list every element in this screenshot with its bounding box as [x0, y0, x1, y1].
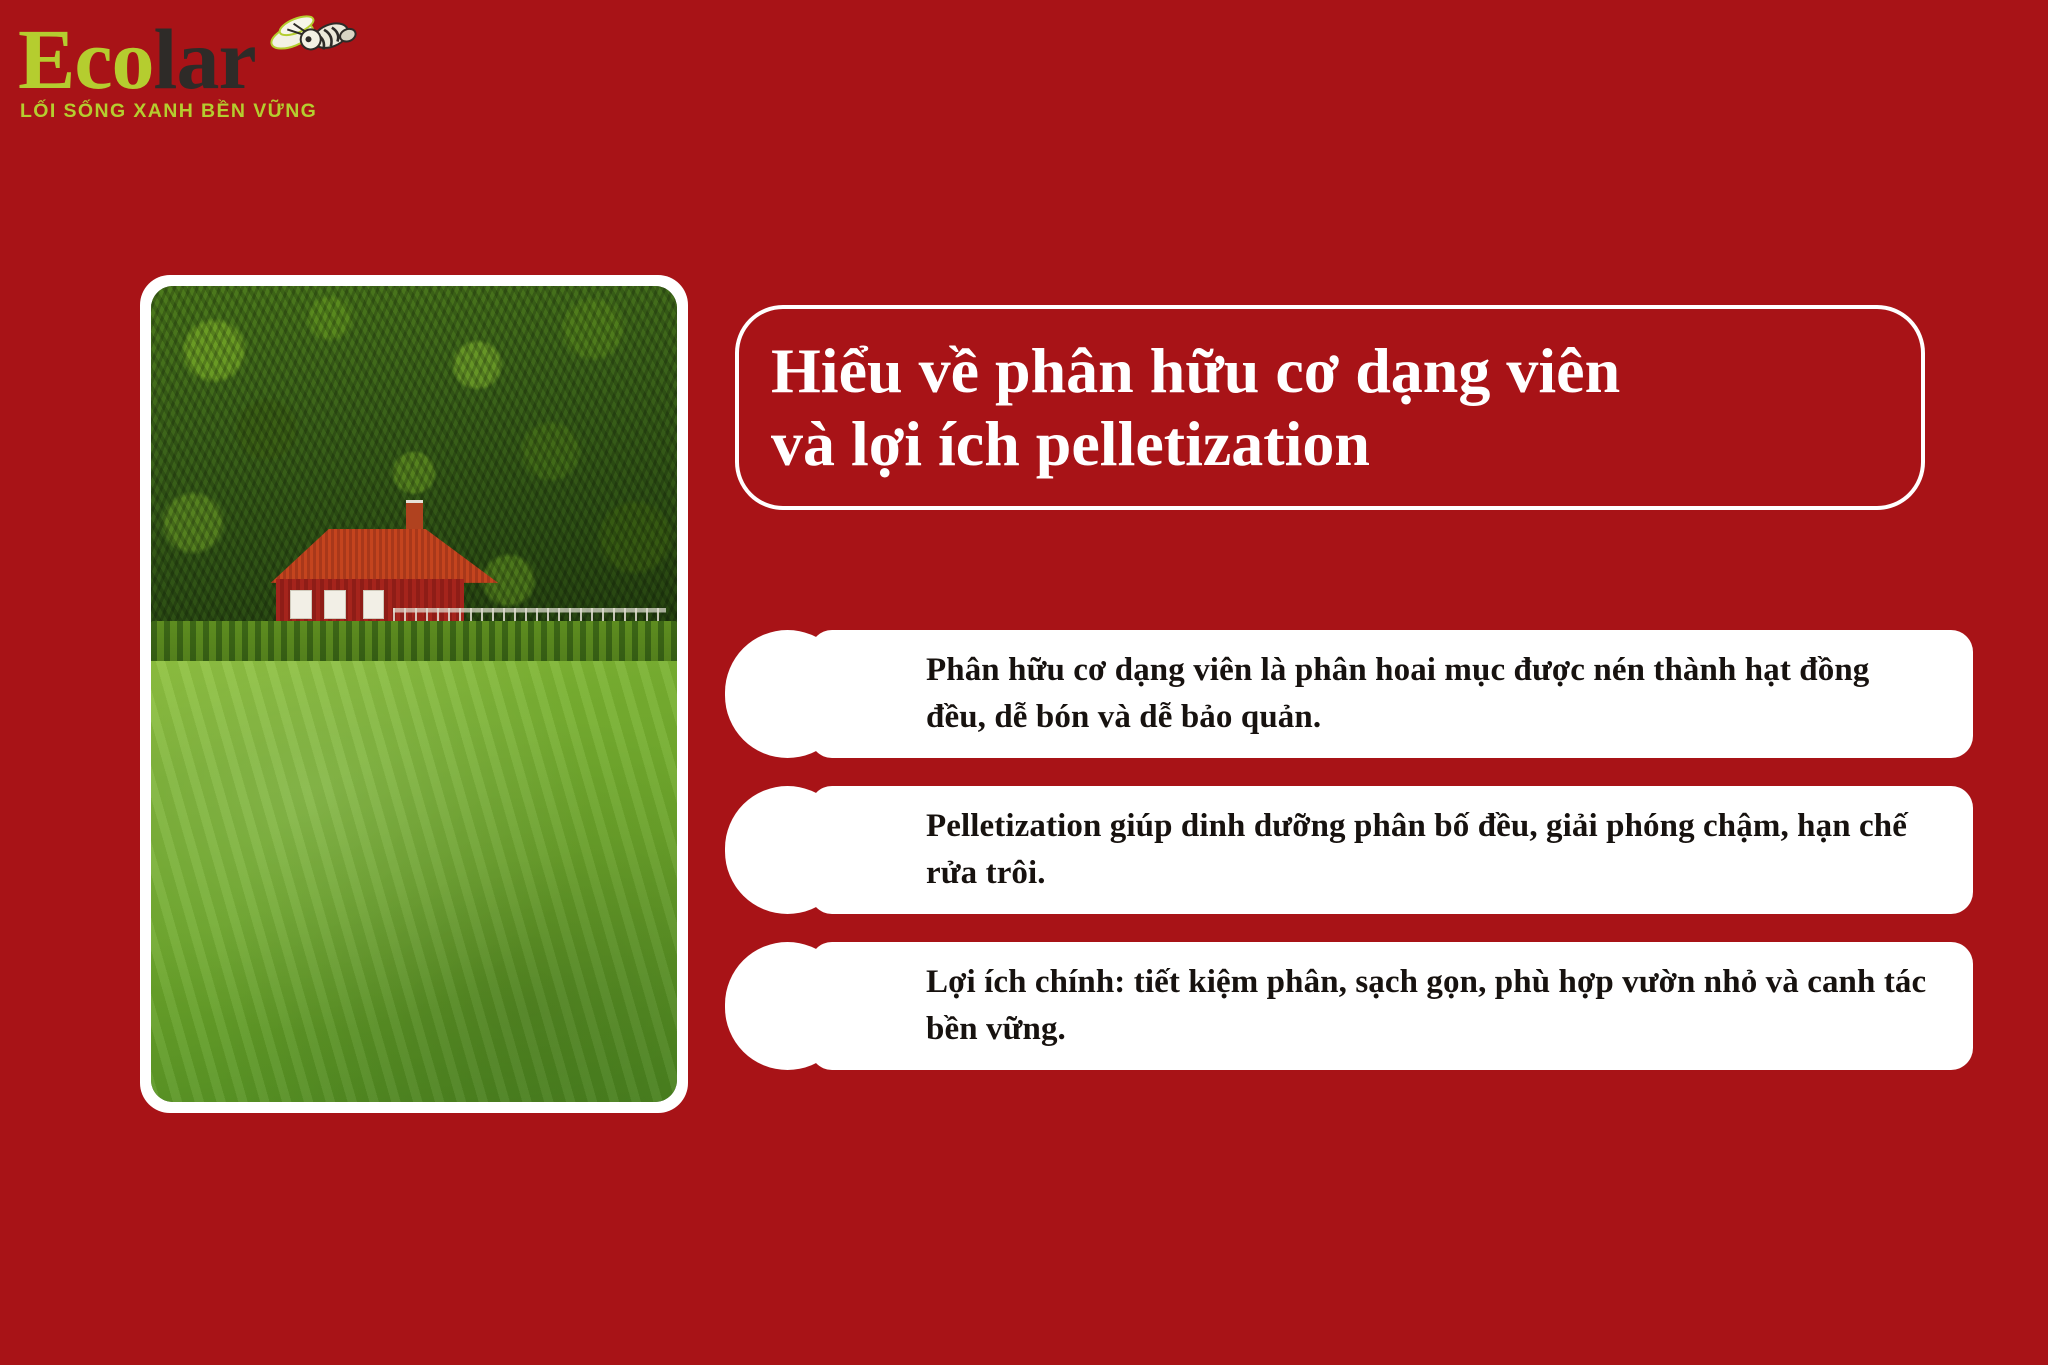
page-title-line2: và lợi ích pelletization — [771, 408, 1370, 479]
brand-wordmark: Ecolar — [18, 16, 256, 102]
bullet-list: Phân hữu cơ dạng viên là phân hoai mục đ… — [725, 630, 1973, 1098]
bullet-card: Phân hữu cơ dạng viên là phân hoai mục đ… — [810, 630, 1973, 758]
pill-marker-icon — [725, 942, 850, 1070]
page-title-box: Hiểu về phân hữu cơ dạng viên và lợi ích… — [735, 305, 1925, 510]
bee-icon — [270, 8, 360, 76]
bullet-card: Lợi ích chính: tiết kiệm phân, sạch gọn,… — [810, 942, 1973, 1070]
list-item: Phân hữu cơ dạng viên là phân hoai mục đ… — [725, 630, 1973, 758]
window — [324, 590, 346, 619]
photo-card — [140, 275, 688, 1113]
house-roof — [256, 529, 498, 583]
window — [363, 590, 385, 619]
bullet-card: Pelletization giúp dinh dưỡng phân bố đề… — [810, 786, 1973, 914]
grass-meadow — [151, 661, 677, 1102]
pill-marker-icon — [725, 786, 850, 914]
list-item: Lợi ích chính: tiết kiệm phân, sạch gọn,… — [725, 942, 1973, 1070]
page-title-line1: Hiểu về phân hữu cơ dạng viên — [771, 335, 1620, 406]
scene-photo — [151, 286, 677, 1102]
list-item: Pelletization giúp dinh dưỡng phân bố đề… — [725, 786, 1973, 914]
window — [290, 590, 312, 619]
page-title: Hiểu về phân hữu cơ dạng viên và lợi ích… — [739, 335, 1654, 480]
bullet-text: Lợi ích chính: tiết kiệm phân, sạch gọn,… — [810, 959, 1973, 1053]
brand-name-lar: lar — [154, 11, 256, 107]
brand-logo: Ecolar LỐI SỐNG XANH BỀN VỮNG — [18, 8, 348, 138]
brand-tagline: LỐI SỐNG XANH BỀN VỮNG — [20, 100, 317, 123]
brand-name-eco: Eco — [18, 11, 154, 107]
bullet-text: Phân hữu cơ dạng viên là phân hoai mục đ… — [810, 647, 1973, 741]
bullet-text: Pelletization giúp dinh dưỡng phân bố đề… — [810, 803, 1973, 897]
infographic-canvas: Ecolar LỐI SỐNG XANH BỀN VỮNG — [0, 0, 2048, 1365]
pill-marker-icon — [725, 630, 850, 758]
